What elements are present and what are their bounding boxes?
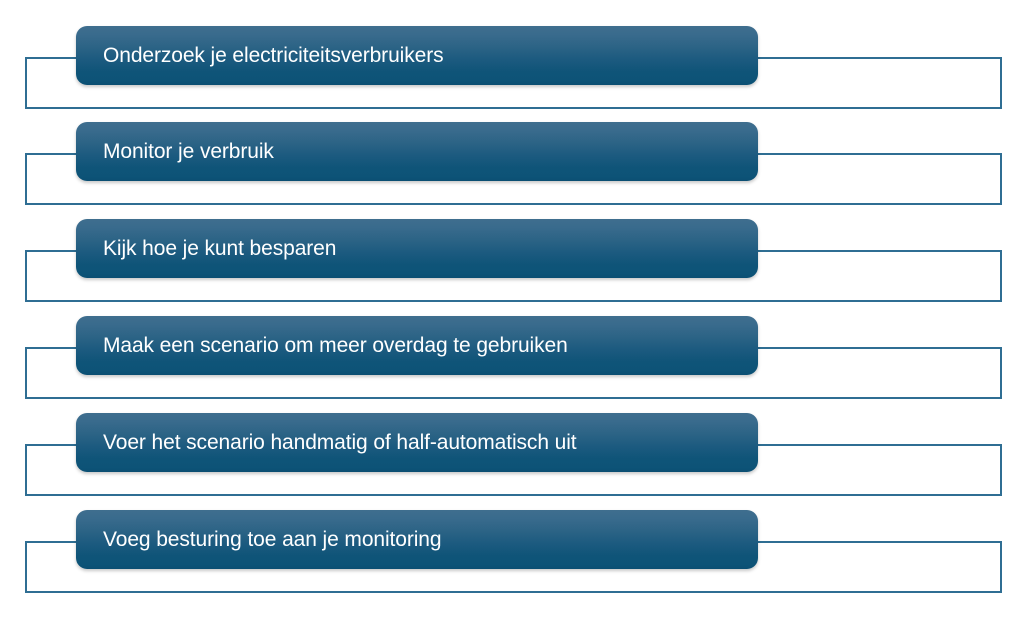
process-step-1[interactable]: Onderzoek je electriciteitsverbruikers — [0, 26, 1024, 122]
process-step-4[interactable]: Maak een scenario om meer overdag te geb… — [0, 316, 1024, 412]
process-step-3[interactable]: Kijk hoe je kunt besparen — [0, 219, 1024, 315]
step-label-4: Maak een scenario om meer overdag te geb… — [76, 334, 568, 357]
process-step-2[interactable]: Monitor je verbruik — [0, 122, 1024, 218]
step-callout-2[interactable]: Monitor je verbruik — [76, 122, 758, 181]
step-label-1: Onderzoek je electriciteitsverbruikers — [76, 44, 444, 67]
process-step-5[interactable]: Voer het scenario handmatig of half-auto… — [0, 413, 1024, 509]
step-label-2: Monitor je verbruik — [76, 140, 274, 163]
step-callout-3[interactable]: Kijk hoe je kunt besparen — [76, 219, 758, 278]
step-label-3: Kijk hoe je kunt besparen — [76, 237, 336, 260]
process-step-6[interactable]: Voeg besturing toe aan je monitoring — [0, 510, 1024, 606]
step-callout-1[interactable]: Onderzoek je electriciteitsverbruikers — [76, 26, 758, 85]
step-label-5: Voer het scenario handmatig of half-auto… — [76, 431, 577, 454]
process-diagram: Onderzoek je electriciteitsverbruikers M… — [0, 0, 1024, 634]
step-callout-5[interactable]: Voer het scenario handmatig of half-auto… — [76, 413, 758, 472]
step-label-6: Voeg besturing toe aan je monitoring — [76, 528, 441, 551]
step-callout-4[interactable]: Maak een scenario om meer overdag te geb… — [76, 316, 758, 375]
step-callout-6[interactable]: Voeg besturing toe aan je monitoring — [76, 510, 758, 569]
